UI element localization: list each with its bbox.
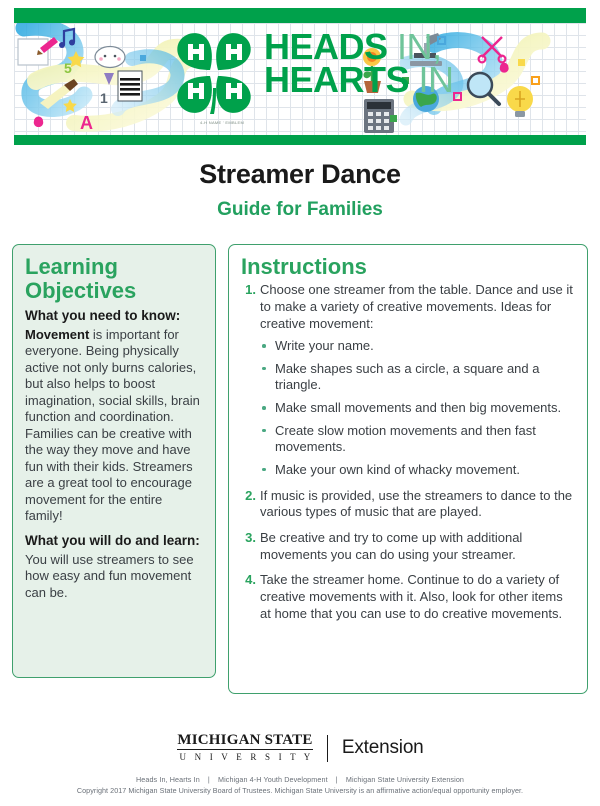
instruction-sub-item-text: Create slow motion movements and then fa… (275, 423, 536, 455)
heart-icon (34, 117, 44, 128)
calculator-icon (364, 99, 394, 133)
msu-line-university: U N I V E R S I T Y (176, 750, 313, 762)
cloud-icon (95, 47, 125, 68)
instructions-heading: Instructions (241, 255, 575, 278)
instruction-sub-item-text: Write your name. (275, 338, 374, 353)
square-shape-3 (390, 115, 397, 122)
instructions-panel: Instructions 1.Choose one streamer from … (228, 244, 588, 694)
page-title: Streamer Dance (0, 159, 600, 190)
instruction-step: 1.Choose one streamer from the table. Da… (241, 282, 575, 478)
instruction-step: 3.Be creative and try to come up with ad… (241, 530, 575, 563)
instruction-step: 2.If music is provided, use the streamer… (241, 488, 575, 521)
bullet-dot-icon (262, 468, 266, 472)
instruction-step-number: 3. (241, 530, 256, 547)
instruction-step-text: Take the streamer home. Continue to do a… (260, 572, 563, 620)
bullet-dot-icon (262, 429, 266, 433)
square-shape (140, 55, 146, 61)
instruction-step-text: Be creative and try to come up with addi… (260, 530, 522, 562)
bullet-dot-icon (262, 406, 266, 410)
credit-4h-youth-development: Michigan 4-H Youth Development (218, 775, 328, 784)
instruction-sub-item: Make shapes such as a circle, a square a… (260, 361, 575, 394)
heads-in-hearts-in-wordmark: HEADS IN, HEARTS IN (264, 30, 564, 96)
will-do-body: You will use streamers to see how easy a… (25, 552, 203, 602)
number-5-glyph: 5 (64, 60, 72, 76)
instruction-sub-item: Make your own kind of whacky movement. (260, 462, 575, 479)
need-to-know-lead: Movement (25, 327, 89, 342)
msu-logo-divider (327, 735, 329, 762)
wordmark-in-2: IN (419, 59, 454, 100)
footer-credit-line: Heads In, Hearts In | Michigan 4-H Youth… (0, 775, 600, 784)
instruction-sub-list: Write your name.Make shapes such as a ci… (260, 338, 575, 478)
footer-copyright: Copyright 2017 Michigan State University… (0, 786, 600, 795)
instruction-step-number: 2. (241, 488, 256, 505)
bullet-dot-icon (262, 344, 266, 348)
instructions-list: 1.Choose one streamer from the table. Da… (241, 282, 575, 622)
number-1-glyph: 1 (100, 90, 108, 106)
4-h-clover-logo (166, 26, 262, 118)
instruction-sub-item-text: Make your own kind of whacky movement. (275, 462, 520, 477)
instruction-sub-item: Write your name. (260, 338, 575, 355)
instruction-sub-item-text: Make shapes such as a circle, a square a… (275, 361, 539, 393)
banner-top-bar (14, 8, 586, 23)
4-h-trademark-text: 4-H NAME ' EMBLEM (200, 120, 244, 125)
instruction-sub-item: Create slow motion movements and then fa… (260, 423, 575, 456)
credit-heads-in-hearts-in: Heads In, Hearts In (136, 775, 200, 784)
credit-msu-extension: Michigan State University Extension (346, 775, 464, 784)
credit-separator-2: | (330, 775, 344, 784)
msu-wordmark: MICHIGAN STATE U N I V E R S I T Y (176, 732, 313, 764)
bullet-dot-icon (262, 367, 266, 371)
learning-objectives-heading: Learning Objectives (25, 255, 203, 302)
instruction-step-number: 1. (241, 282, 256, 299)
instruction-sub-item: Make small movements and then big moveme… (260, 400, 575, 417)
notebook-icon (118, 71, 142, 101)
letter-a-glyph: A (80, 113, 93, 133)
need-to-know-body: Movement is important for everyone. Bein… (25, 327, 203, 525)
msu-extension-label: Extension (342, 737, 424, 759)
instruction-step-text: If music is provided, use the streamers … (260, 488, 572, 520)
instruction-step-number: 4. (241, 572, 256, 589)
msu-line-michigan-state: MICHIGAN STATE (177, 732, 312, 750)
need-to-know-rest: is important for everyone. Being physica… (25, 327, 200, 524)
instruction-step-text: Choose one streamer from the table. Danc… (260, 282, 573, 330)
banner-bottom-bar (14, 135, 586, 145)
learning-objectives-panel: Learning Objectives What you need to kno… (12, 244, 216, 678)
need-to-know-label: What you need to know: (25, 308, 203, 324)
credit-separator-1: | (202, 775, 216, 784)
page-subtitle: Guide for Families (0, 199, 600, 221)
wordmark-hearts: HEARTS (264, 59, 409, 100)
instruction-step: 4.Take the streamer home. Continue to do… (241, 572, 575, 622)
instruction-sub-item-text: Make small movements and then big moveme… (275, 400, 561, 415)
will-do-label: What you will do and learn: (25, 533, 203, 549)
page-header-banner: 5 1 A (14, 8, 586, 145)
msu-extension-logo: MICHIGAN STATE U N I V E R S I T Y Exten… (0, 732, 600, 764)
